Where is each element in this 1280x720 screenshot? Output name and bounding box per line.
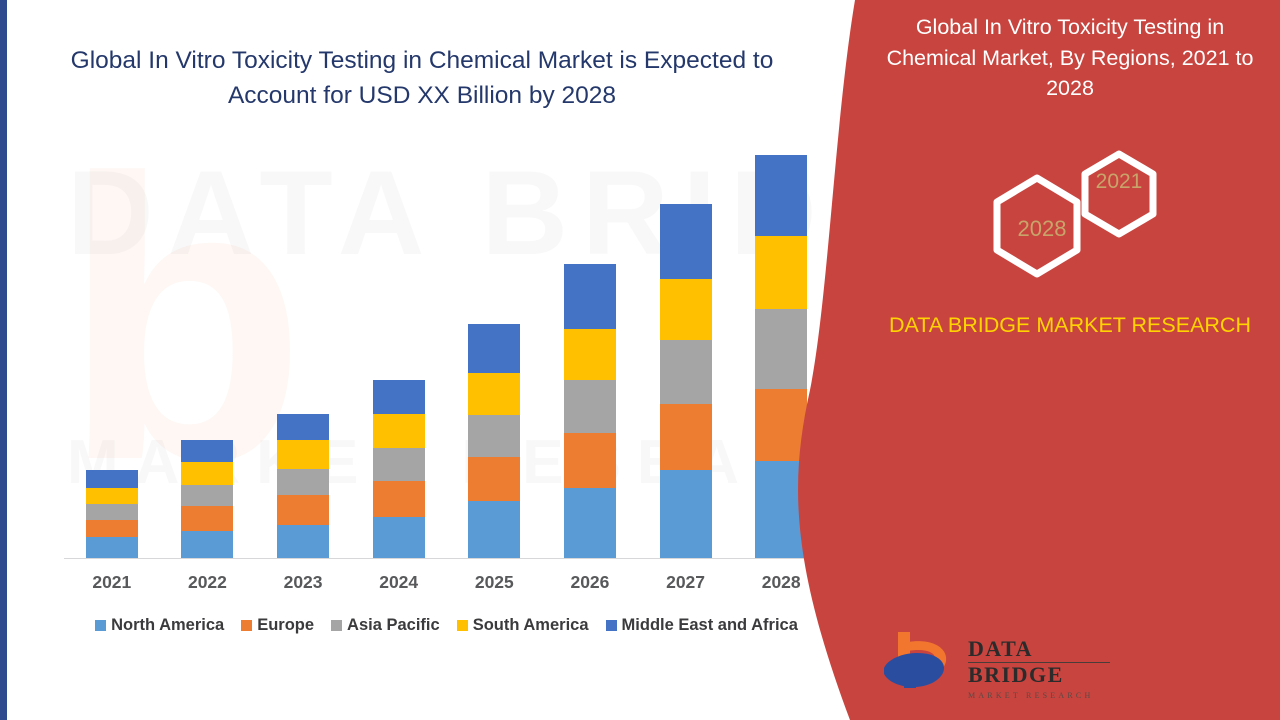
bar-segment[interactable] <box>181 531 233 559</box>
bar-segment[interactable] <box>277 440 329 469</box>
bar-segment[interactable] <box>660 279 712 341</box>
bar-group <box>64 140 829 558</box>
chart-title: Global In Vitro Toxicity Testing in Chem… <box>62 44 782 114</box>
bar-segment[interactable] <box>277 495 329 525</box>
bar-segment[interactable] <box>564 329 616 380</box>
right-panel-title: Global In Vitro Toxicity Testing in Chem… <box>880 12 1260 104</box>
bar-segment[interactable] <box>468 457 520 501</box>
legend-label: Europe <box>257 616 314 635</box>
bar-segment[interactable] <box>468 415 520 457</box>
left-accent-strip <box>0 0 7 720</box>
bar-column-2025[interactable] <box>468 324 520 558</box>
legend-item-middle-east-and-africa[interactable]: Middle East and Africa <box>606 616 798 635</box>
plot-area <box>64 140 829 559</box>
bar-segment[interactable] <box>86 488 138 505</box>
bar-segment[interactable] <box>181 440 233 462</box>
bar-segment[interactable] <box>660 340 712 404</box>
dbmr-logo: DATA BRIDGE MARKET RESEARCH <box>880 628 1110 700</box>
bar-column-2021[interactable] <box>86 470 138 558</box>
bar-column-2022[interactable] <box>181 440 233 558</box>
legend-item-europe[interactable]: Europe <box>241 616 314 635</box>
right-red-panel: Global In Vitro Toxicity Testing in Chem… <box>780 0 1280 720</box>
x-axis-label-2024: 2024 <box>373 572 425 593</box>
bar-segment[interactable] <box>468 501 520 558</box>
x-axis-labels: 20212022202320242025202620272028 <box>64 572 829 593</box>
bar-column-2024[interactable] <box>373 380 425 558</box>
chart-panel: b DATA BRIDGE MARKET RESEARCH Global In … <box>7 0 880 720</box>
bar-segment[interactable] <box>277 414 329 440</box>
hex-badge-group: 2028 2021 <box>975 148 1175 283</box>
bar-column-2026[interactable] <box>564 264 616 558</box>
logo-text-block: DATA BRIDGE MARKET RESEARCH <box>968 636 1110 700</box>
bar-segment[interactable] <box>373 481 425 517</box>
bar-segment[interactable] <box>181 506 233 530</box>
legend-item-north-america[interactable]: North America <box>95 616 224 635</box>
bar-segment[interactable] <box>468 373 520 415</box>
legend-swatch-icon <box>241 620 252 631</box>
bar-segment[interactable] <box>86 537 138 558</box>
bar-segment[interactable] <box>86 470 138 488</box>
bar-segment[interactable] <box>373 380 425 414</box>
hex-label-2028: 2028 <box>997 216 1087 242</box>
bar-segment[interactable] <box>660 204 712 279</box>
x-axis-label-2022: 2022 <box>181 572 233 593</box>
bar-segment[interactable] <box>660 470 712 558</box>
bar-segment[interactable] <box>564 433 616 488</box>
bar-column-2027[interactable] <box>660 204 712 558</box>
legend-swatch-icon <box>95 620 106 631</box>
bar-segment[interactable] <box>181 485 233 506</box>
bar-segment[interactable] <box>277 525 329 558</box>
x-axis-label-2026: 2026 <box>564 572 616 593</box>
legend-label: North America <box>111 616 224 635</box>
legend-label: Asia Pacific <box>347 616 440 635</box>
legend-item-south-america[interactable]: South America <box>457 616 589 635</box>
bar-segment[interactable] <box>86 504 138 519</box>
bar-segment[interactable] <box>564 264 616 329</box>
legend-label: South America <box>473 616 589 635</box>
hexagon-2021-icon <box>1085 154 1153 234</box>
x-axis-line <box>64 558 829 559</box>
x-axis-label-2021: 2021 <box>86 572 138 593</box>
legend-swatch-icon <box>606 620 617 631</box>
bar-segment[interactable] <box>181 462 233 485</box>
logo-tagline: MARKET RESEARCH <box>968 691 1110 700</box>
legend-swatch-icon <box>331 620 342 631</box>
x-axis-label-2025: 2025 <box>468 572 520 593</box>
legend-label: Middle East and Africa <box>622 616 798 635</box>
bar-segment[interactable] <box>373 517 425 558</box>
x-axis-label-2027: 2027 <box>660 572 712 593</box>
legend-swatch-icon <box>457 620 468 631</box>
brand-name-text: DATA BRIDGE MARKET RESEARCH <box>880 310 1260 341</box>
bar-segment[interactable] <box>564 380 616 433</box>
bar-segment[interactable] <box>86 520 138 538</box>
hex-label-2021: 2021 <box>1079 170 1159 194</box>
bar-segment[interactable] <box>468 324 520 374</box>
bar-column-2023[interactable] <box>277 414 329 558</box>
logo-name: DATA BRIDGE <box>968 636 1110 688</box>
bar-segment[interactable] <box>373 414 425 448</box>
bar-segment[interactable] <box>660 404 712 470</box>
logo-b-swoosh-icon <box>880 628 962 694</box>
bar-segment[interactable] <box>564 488 616 558</box>
x-axis-label-2023: 2023 <box>277 572 329 593</box>
bar-segment[interactable] <box>277 469 329 495</box>
legend-item-asia-pacific[interactable]: Asia Pacific <box>331 616 440 635</box>
bar-segment[interactable] <box>373 448 425 481</box>
right-panel-content: Global In Vitro Toxicity Testing in Chem… <box>780 0 1280 720</box>
chart-legend: North AmericaEuropeAsia PacificSouth Ame… <box>64 616 829 635</box>
